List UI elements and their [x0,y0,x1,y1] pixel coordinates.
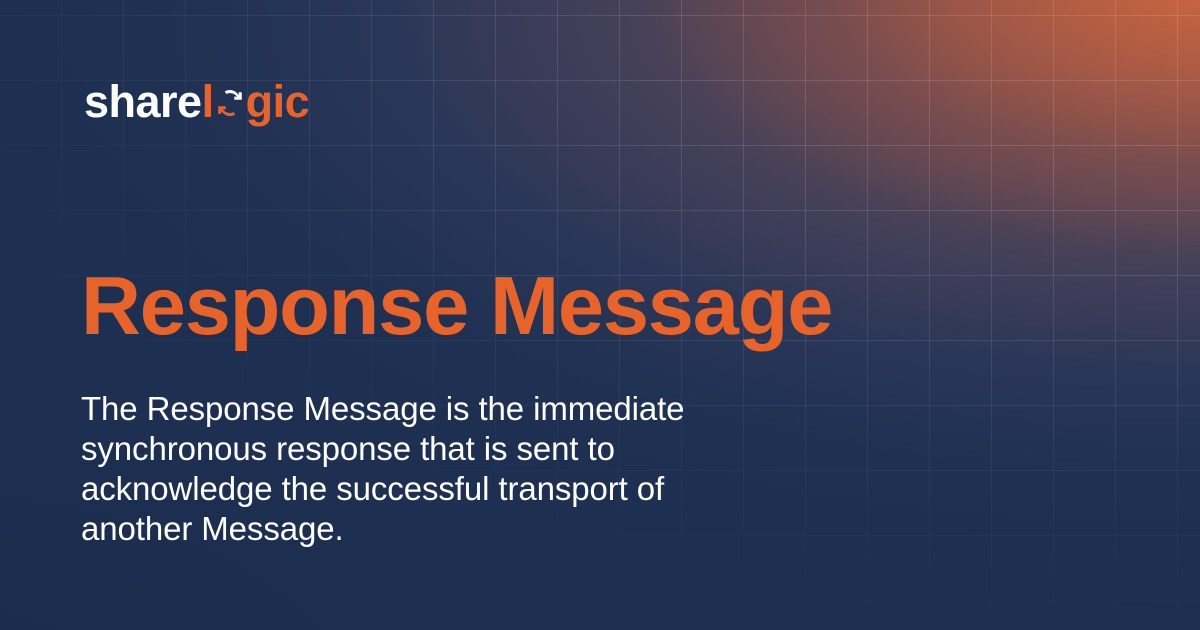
sync-refresh-icon [215,88,245,118]
logo-text-share: share [84,79,202,124]
sharelogic-logo[interactable]: share l gic [84,79,309,124]
page-description: The Response Message is the immediate sy… [81,389,781,549]
logo-text-gic: gic [246,79,310,124]
social-share-card: share l gic Response Message The Respons… [0,0,1200,630]
page-title: Response Message [81,262,832,349]
logo-text-l: l [202,79,214,124]
